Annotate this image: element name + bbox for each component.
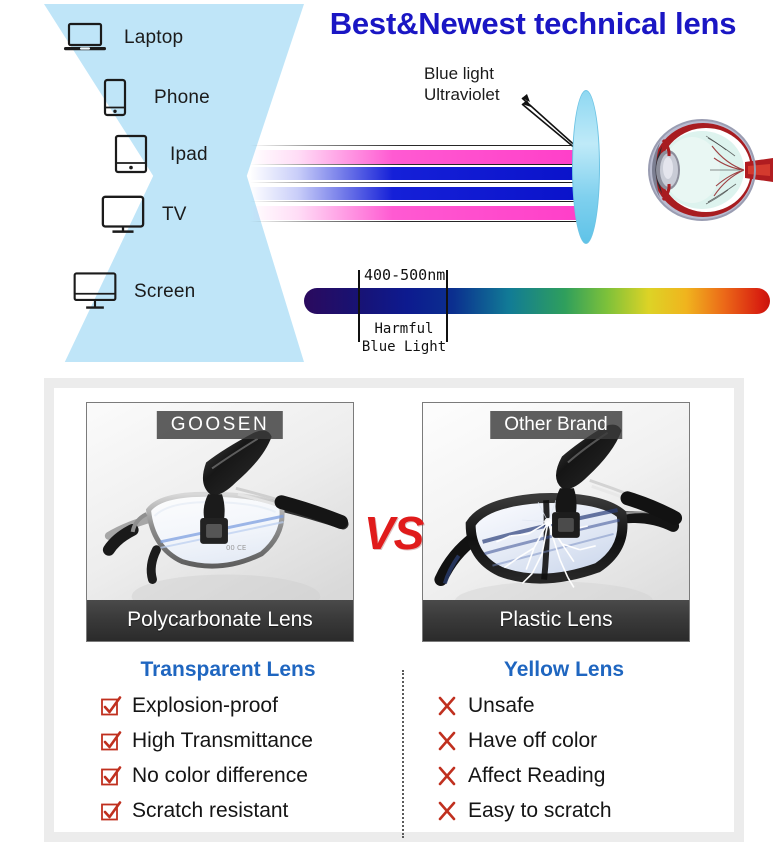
comparison-section: VS bbox=[44, 378, 744, 842]
product-photo-other-brand[interactable]: Other Brand Plastic Lens bbox=[422, 402, 690, 642]
device-row-tv: TV bbox=[100, 195, 187, 235]
brand-tag-other: Other Brand bbox=[490, 411, 622, 439]
comparison-column-left: 00 CE GOOSEN Polycarbonate Lens Transpar… bbox=[86, 402, 370, 832]
beam-guide-line bbox=[250, 164, 590, 165]
light-beam-group bbox=[250, 140, 590, 235]
device-label: Laptop bbox=[124, 27, 183, 49]
beam-guide-line bbox=[250, 182, 590, 183]
beam-guide-line bbox=[250, 145, 590, 146]
spectrum-range-label: 400-500nm bbox=[364, 266, 445, 284]
comparison-column-right: Other Brand Plastic Lens Yellow Lens Uns… bbox=[422, 402, 706, 832]
laptop-icon bbox=[62, 18, 108, 58]
lens-caption-polycarbonate: Polycarbonate Lens bbox=[87, 600, 353, 641]
feature-heading-transparent: Transparent Lens bbox=[86, 658, 370, 682]
cross-icon bbox=[436, 730, 458, 752]
brand-tag-goosen: GOOSEN bbox=[157, 411, 283, 439]
feature-item: Scratch resistant bbox=[100, 797, 370, 824]
device-label: Ipad bbox=[170, 144, 208, 166]
light-beam-magenta bbox=[250, 150, 590, 164]
light-beam-magenta bbox=[250, 206, 590, 220]
spectrum-harmful-label: Harmful Blue Light bbox=[356, 320, 452, 356]
feature-list-transparent: Explosion-proof High Transmittance bbox=[86, 692, 370, 824]
feature-item: Affect Reading bbox=[436, 762, 706, 789]
infographic-page: Laptop Phone Ipad bbox=[0, 0, 783, 851]
ipad-icon bbox=[108, 135, 154, 175]
device-label: TV bbox=[162, 204, 187, 226]
feature-label: High Transmittance bbox=[132, 727, 313, 754]
spectrum-gradient-bar bbox=[304, 288, 770, 314]
device-row-phone: Phone bbox=[92, 78, 210, 118]
beam-guide-line bbox=[250, 201, 590, 202]
feature-item: Explosion-proof bbox=[100, 692, 370, 719]
screen-icon bbox=[72, 272, 118, 312]
phone-icon bbox=[92, 78, 138, 118]
device-row-ipad: Ipad bbox=[108, 135, 208, 175]
human-eye-cross-section bbox=[630, 116, 780, 224]
feature-item: Have off color bbox=[436, 727, 706, 754]
cross-icon bbox=[436, 695, 458, 717]
feature-heading-yellow: Yellow Lens bbox=[422, 658, 706, 682]
callout-line-blue-light: Blue light bbox=[424, 63, 500, 84]
harmful-line-1: Harmful bbox=[356, 320, 452, 338]
feature-label: Affect Reading bbox=[468, 762, 605, 789]
vs-badge: VS bbox=[364, 506, 423, 560]
feature-label: Unsafe bbox=[468, 692, 535, 719]
feature-item: High Transmittance bbox=[100, 727, 370, 754]
device-row-laptop: Laptop bbox=[62, 18, 183, 58]
feature-divider bbox=[402, 670, 404, 838]
check-icon bbox=[100, 695, 122, 717]
device-row-screen: Screen bbox=[72, 272, 195, 312]
feature-item: Unsafe bbox=[436, 692, 706, 719]
feature-item: No color difference bbox=[100, 762, 370, 789]
top-section: Laptop Phone Ipad bbox=[0, 0, 783, 370]
check-icon bbox=[100, 800, 122, 822]
svg-text:00 CE: 00 CE bbox=[226, 544, 246, 552]
feature-item: Easy to scratch bbox=[436, 797, 706, 824]
comparison-panel: VS bbox=[54, 388, 734, 832]
feature-label: Have off color bbox=[468, 727, 597, 754]
tv-icon bbox=[100, 195, 146, 235]
feature-label: Explosion-proof bbox=[132, 692, 278, 719]
light-beam-blue bbox=[250, 187, 590, 200]
device-label: Phone bbox=[154, 87, 210, 109]
callout-line-ultraviolet: Ultraviolet bbox=[424, 84, 500, 105]
beam-guide-line bbox=[250, 221, 590, 222]
feature-label: Easy to scratch bbox=[468, 797, 612, 824]
harmful-line-2: Blue Light bbox=[356, 338, 452, 356]
lens-caption-plastic: Plastic Lens bbox=[423, 600, 689, 641]
light-beam-blue bbox=[250, 167, 590, 180]
cross-icon bbox=[436, 800, 458, 822]
check-icon bbox=[100, 765, 122, 787]
check-icon bbox=[100, 730, 122, 752]
product-photo-goosen[interactable]: 00 CE GOOSEN Polycarbonate Lens bbox=[86, 402, 354, 642]
light-spectrum-chart: 400-500nm Harmful Blue Light bbox=[300, 262, 780, 366]
blue-light-blocking-lens bbox=[572, 90, 600, 244]
feature-label: No color difference bbox=[132, 762, 308, 789]
feature-label: Scratch resistant bbox=[132, 797, 288, 824]
cross-icon bbox=[436, 765, 458, 787]
device-label: Screen bbox=[134, 281, 195, 303]
feature-list-yellow: Unsafe Have off color bbox=[422, 692, 706, 824]
page-title: Best&Newest technical lens bbox=[298, 6, 768, 42]
blue-light-callout: Blue light Ultraviolet bbox=[424, 63, 500, 105]
